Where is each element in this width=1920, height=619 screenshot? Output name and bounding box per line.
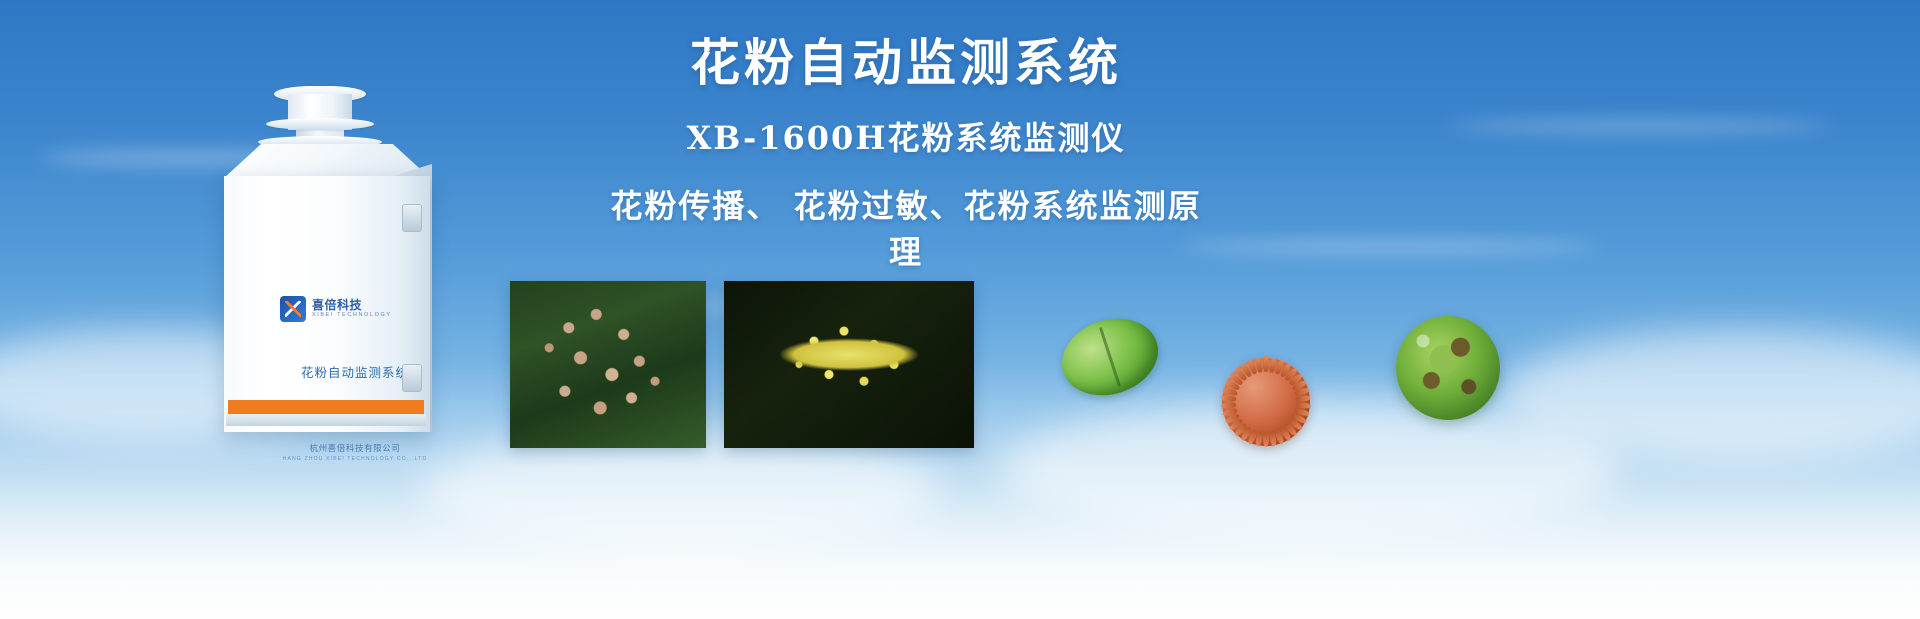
monitoring-device: 喜倍科技 XIBEI TECHNOLOGY 花粉自动监测系统 XB-1600H … [196, 78, 446, 438]
cloud-streak [1180, 240, 1600, 254]
brand-name-cn: 喜倍科技 [312, 299, 392, 312]
brand-name-en: XIBEI TECHNOLOGY [312, 313, 392, 319]
device-latch-lower [402, 364, 422, 392]
page-title: 花粉自动监测系统 [606, 36, 1206, 91]
cypress-pollen-cones-photo [510, 281, 706, 448]
device-brand-logo: 喜倍科技 XIBEI TECHNOLOGY [280, 296, 392, 322]
pollen-monitor-banner: 喜倍科技 XIBEI TECHNOLOGY 花粉自动监测系统 XB-1600H … [0, 0, 1920, 619]
subtitle-model: XB-1600H花粉系统监测仪 [606, 113, 1206, 159]
device-rain-shield-upper [266, 118, 374, 130]
device-base [226, 414, 426, 426]
subtitle-topics: 花粉传播、 花粉过敏、花粉系统监测原理 [606, 181, 1206, 273]
cloud-streak [1450, 120, 1830, 132]
device-accent-stripe [228, 400, 424, 414]
device-latch-upper [402, 204, 422, 232]
xibei-logo-icon [280, 296, 306, 322]
pollen-spike [1263, 432, 1269, 447]
device-front-panel: 喜倍科技 XIBEI TECHNOLOGY 花粉自动监测系统 XB-1600H … [224, 176, 430, 432]
pollen-spike [1221, 395, 1236, 402]
device-company-en: HANG ZHOU XIBEI TECHNOLOGY CO., LTD [252, 456, 458, 462]
device-top-panel [224, 144, 430, 178]
pollen-spike [1296, 395, 1311, 402]
device-company-cn: 杭州喜倍科技有限公司 [252, 442, 458, 454]
pollen-spike [1263, 357, 1269, 372]
yellow-catkin-photo [724, 281, 974, 448]
device-product-name: 花粉自动监测系统 [252, 362, 458, 381]
green-pollen-grain [1396, 316, 1500, 420]
spiky-pollen-grain [1222, 358, 1310, 446]
headline-block: 花粉自动监测系统 XB-1600H花粉系统监测仪 花粉传播、 花粉过敏、花粉系统… [606, 36, 1206, 273]
